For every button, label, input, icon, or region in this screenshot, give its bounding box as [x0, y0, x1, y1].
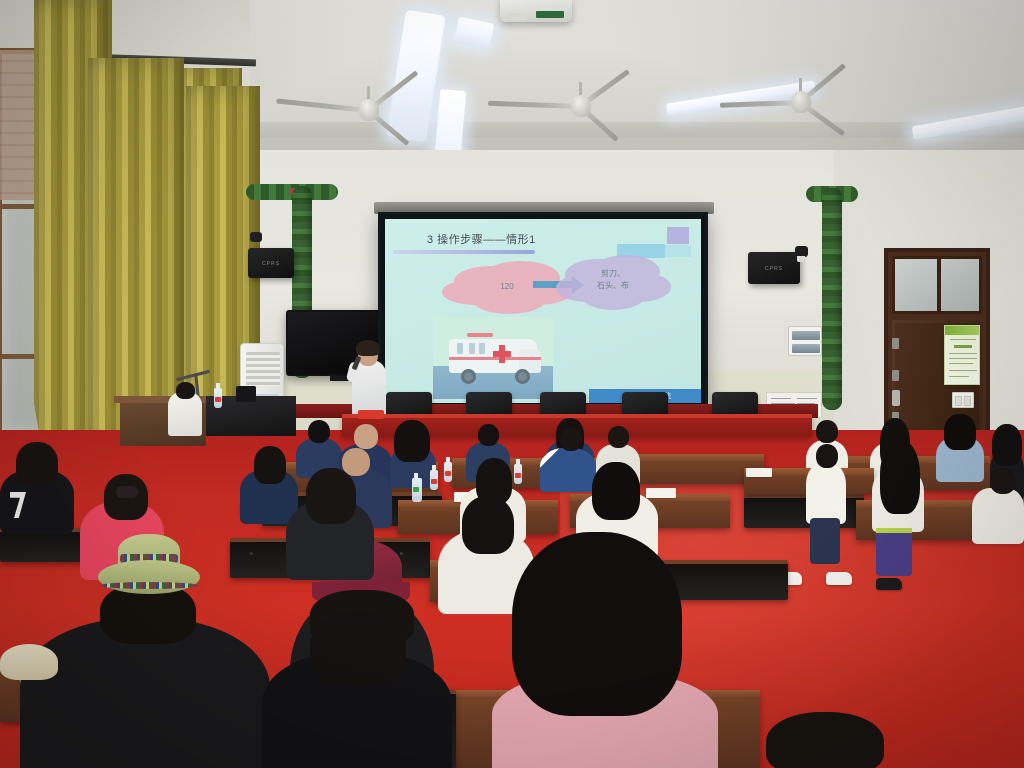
handout-paper[interactable]	[646, 488, 676, 498]
slide-cloud-right-label-2: 石头、布	[575, 281, 651, 292]
projection-screen: 3 操作步骤——情形1 120 剪刀、 石头、布	[378, 212, 708, 410]
electrical-distribution-panel[interactable]	[788, 326, 822, 356]
poster-text-line	[949, 358, 977, 359]
wall-speaker: CPRS	[248, 248, 294, 278]
attendee-hair	[310, 612, 406, 686]
water-bottle[interactable]	[444, 462, 452, 482]
security-camera	[250, 232, 262, 242]
ambulance-lightbar-icon	[467, 333, 493, 337]
transom-mullion	[937, 259, 941, 311]
ambulance-stripe	[449, 357, 541, 360]
ambulance-window	[457, 343, 463, 354]
notice-text-line	[771, 398, 791, 399]
bench-stud	[250, 552, 253, 555]
bottle-label	[431, 479, 437, 484]
attendee-hair	[306, 468, 356, 524]
water-bottle[interactable]	[514, 464, 522, 484]
panel-breaker-row	[792, 331, 820, 340]
slide-cloud-right: 剪刀、 石头、布	[575, 261, 651, 303]
attendee-head	[608, 426, 629, 448]
fan-hub	[571, 95, 591, 117]
light-switch-key[interactable]	[955, 396, 962, 406]
projector-lens	[508, 13, 526, 20]
attendee-hair	[766, 712, 884, 768]
light-switch-key[interactable]	[964, 396, 971, 406]
wall-speaker: CPRS	[748, 252, 800, 284]
handout-paper[interactable]	[746, 468, 772, 477]
attendee-legs	[876, 530, 912, 576]
slide-ambulance-illustration	[433, 317, 553, 399]
hair-scrunchie	[116, 486, 138, 498]
water-bottle[interactable]	[214, 388, 222, 408]
hat-decorative-trim	[100, 582, 198, 589]
ambulance-window	[479, 343, 485, 354]
projector-label	[536, 11, 564, 18]
attendee-hair	[512, 532, 682, 716]
bucket-hat	[98, 534, 200, 596]
door-handle[interactable]	[892, 390, 900, 406]
poster-text-line	[949, 353, 977, 354]
bottle-label	[515, 473, 521, 478]
attendee-hair	[16, 442, 58, 486]
poster-text-line	[949, 376, 969, 377]
poster-text-line	[950, 339, 976, 340]
slide-decoration	[665, 245, 691, 257]
ambulance-wheel	[515, 369, 530, 384]
attendee-head	[478, 424, 499, 446]
av-equipment[interactable]	[236, 386, 256, 402]
door-hinge	[892, 338, 899, 349]
slide-title: 3 操作步骤——情形1	[427, 231, 536, 247]
lecture-hall-photo: CPRS CPRS	[0, 0, 1024, 768]
av-operator-head	[176, 382, 195, 399]
red-cross-icon	[493, 351, 511, 357]
table-red-cloth-item	[358, 410, 384, 419]
slide-decoration	[617, 244, 665, 258]
security-camera	[795, 246, 808, 257]
water-bottle[interactable]	[412, 478, 422, 502]
green-information-poster	[944, 325, 980, 385]
bottle-label	[215, 397, 221, 402]
attendee-hair	[394, 420, 430, 462]
attendee-legs	[810, 518, 840, 564]
attendee-head	[816, 420, 838, 443]
shoe	[826, 572, 852, 585]
notice-text-line	[797, 398, 817, 399]
attendee-head	[990, 468, 1016, 494]
slide-cloud-right-label-1: 剪刀、	[575, 269, 651, 280]
poster-text-line	[949, 370, 977, 371]
presenter-hair	[356, 340, 380, 356]
hanging-ivy-vine	[822, 188, 842, 410]
ambulance-window	[469, 343, 475, 354]
presentation-slide: 3 操作步骤——情形1 120 剪刀、 石头、布	[385, 219, 701, 403]
poster-subtitle-band	[954, 345, 972, 348]
attendee-hair	[592, 462, 640, 520]
speaker-brand-badge: CPRS	[765, 266, 783, 272]
attendee-torso	[540, 448, 596, 492]
front-table-edge	[342, 414, 812, 418]
fan-hub	[359, 99, 379, 121]
panel-breaker-row	[792, 344, 820, 353]
attendee-head	[816, 444, 838, 468]
attendee-hair	[944, 414, 976, 450]
poster-text-line	[949, 363, 973, 364]
water-bottle[interactable]	[430, 470, 438, 490]
attendee-hair	[254, 446, 286, 484]
stripe-detail	[876, 528, 912, 533]
attendee-torso	[972, 488, 1024, 544]
fan-hub	[791, 91, 811, 113]
ceiling-projector	[500, 0, 572, 22]
slide-arrow-icon	[533, 281, 573, 288]
shoe	[876, 578, 902, 590]
speaker-brand-badge: CPRS	[262, 261, 280, 267]
cream-hat	[0, 644, 58, 680]
attendee-head	[354, 424, 378, 449]
attendee-torso	[806, 464, 846, 524]
attendee-head	[560, 428, 582, 451]
bench-seat[interactable]	[744, 494, 864, 528]
door-hinge	[892, 370, 899, 381]
bench-stud	[400, 552, 403, 555]
bottle-label	[445, 471, 451, 476]
attendee-hair	[880, 440, 920, 514]
bottle-label	[413, 487, 419, 492]
ambulance-wheel	[461, 369, 476, 384]
slide-decoration	[667, 227, 689, 244]
slide-title-underline	[393, 250, 535, 254]
door-transom-glass	[892, 256, 982, 314]
attendee-hair	[992, 424, 1022, 466]
poster-header-band	[945, 326, 979, 335]
light-switch-plate[interactable]	[952, 392, 974, 408]
attendee-hair	[462, 496, 514, 554]
ac-vent-grille	[246, 352, 280, 386]
attendee-head	[308, 420, 330, 443]
